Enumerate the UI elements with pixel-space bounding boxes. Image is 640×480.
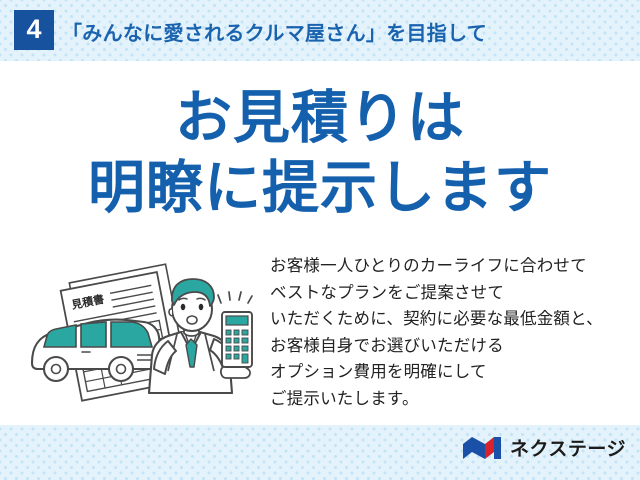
brand-logo: ネクステージ xyxy=(462,434,626,461)
body-copy-line-5: オプション費用を明確にして xyxy=(270,359,603,386)
headline-line-2: 明瞭に提示します xyxy=(0,153,640,223)
body-copy: お客様一人ひとりのカーライフに合わせて ベストなプランをご提案させて いただくた… xyxy=(270,253,603,412)
headline-line-1: お見積りは xyxy=(0,83,640,153)
section-number: 4 xyxy=(26,16,41,43)
body-copy-line-4: お客様自身でお選びいただける xyxy=(270,333,603,360)
sparkle-icon xyxy=(218,292,252,303)
header-title: 「みんなに愛されるクルマ屋さん」を目指して xyxy=(62,17,487,46)
promo-slide: 4 「みんなに愛されるクルマ屋さん」を目指して お見積りは 明瞭に提示します お… xyxy=(0,0,640,480)
body-copy-line-6: ご提示いたします。 xyxy=(270,386,603,413)
body-copy-line-1: お客様一人ひとりのカーライフに合わせて xyxy=(270,253,603,280)
nextage-n-mark-icon xyxy=(462,435,502,461)
content-card: お見積りは 明瞭に提示します お客様一人ひとりのカーライフに合わせて ベストなプ… xyxy=(0,61,640,425)
brand-name: ネクステージ xyxy=(510,434,626,461)
headline: お見積りは 明瞭に提示します xyxy=(0,83,640,223)
illustration: 見積書 xyxy=(18,251,268,416)
body-copy-line-2: ベストなプランをご提案させて xyxy=(270,280,603,307)
body-copy-line-3: いただくために、契約に必要な最低金額と、 xyxy=(270,306,603,333)
slide-header: 4 「みんなに愛されるクルマ屋さん」を目指して xyxy=(0,0,640,61)
section-number-badge: 4 xyxy=(14,10,54,50)
calculator-icon xyxy=(218,292,252,367)
